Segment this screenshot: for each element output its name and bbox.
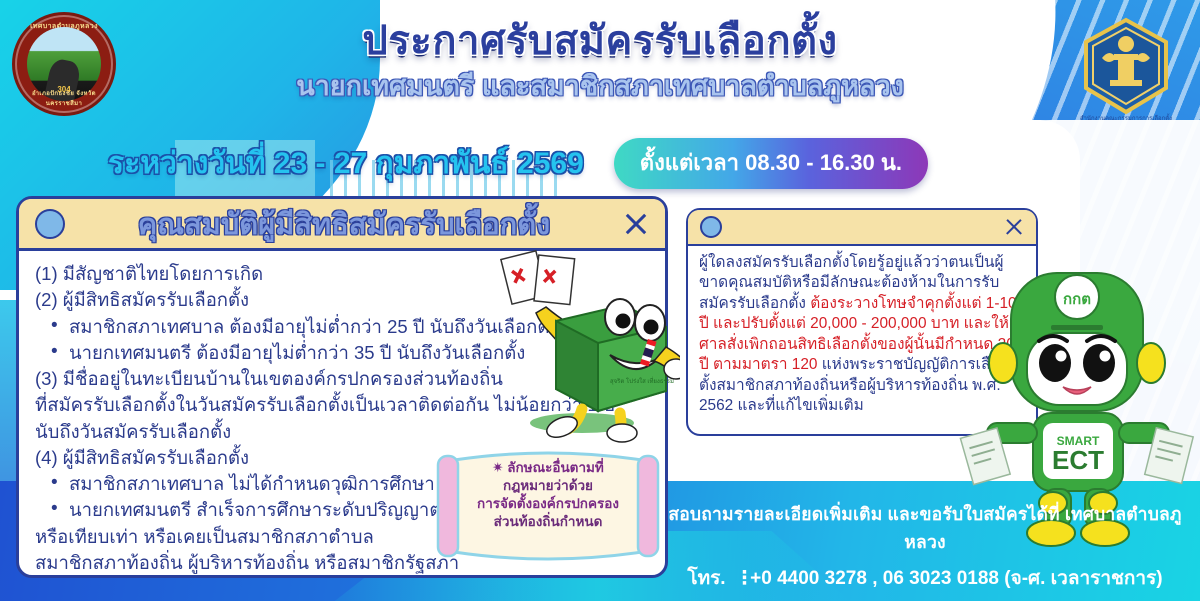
robot-chest-main-text: ECT — [1052, 445, 1104, 475]
scroll-note-line4: ส่วนท้องถิ่นกำหนด — [456, 513, 640, 531]
poster-title-block: ประกาศรับสมัครรับเลือกตั้ง นายกเทศมนตรี … — [0, 18, 1200, 102]
penalty-panel-titlebar — [688, 210, 1036, 246]
scroll-note-line3: การจัดตั้งองค์กรปกครอง — [456, 495, 640, 513]
ballot-box-body-text: สุจริต โปร่งใส เที่ยงธรรม — [610, 377, 674, 385]
footer-inquiry-text: สอบถามรายละเอียดเพิ่มเติม และขอรับใบสมัค… — [655, 500, 1195, 556]
date-and-time-row: ระหว่างวันที่ 23 - 27 กุมภาพันธ์ 2569 ตั… — [0, 138, 1200, 189]
application-date-range: ระหว่างวันที่ 23 - 27 กุมภาพันธ์ 2569 — [108, 140, 584, 187]
close-icon[interactable] — [623, 211, 649, 237]
scroll-note-line2: กฎหมายว่าด้วย — [456, 477, 640, 495]
blue-circle-icon — [700, 216, 722, 238]
scroll-note-text: ✷ ลักษณะอื่นตามที่ กฎหมายว่าด้วย การจัดต… — [456, 459, 640, 531]
municipality-seal-logo: เทศบาลตำบลภูหลวง 304 อำเภอปักธงชัย จังหว… — [12, 12, 116, 116]
robot-badge-text: กกต — [1063, 291, 1091, 308]
page-title: ประกาศรับสมัครรับเลือกตั้ง — [0, 18, 1200, 64]
qualifications-panel-title: คุณสมบัติผู้มีสิทธิสมัครรับเลือกตั้ง — [79, 201, 609, 247]
blue-circle-icon — [35, 209, 65, 239]
footer-contact-block: สอบถามรายละเอียดเพิ่มเติม และขอรับใบสมัค… — [655, 500, 1195, 593]
ect-commission-emblem: สำนักงานคณะกรรมการการเลือกตั้ง — [1074, 14, 1178, 122]
page-subtitle: นายกเทศมนตรี และสมาชิกสภาเทศบาลตำบลภูหลว… — [0, 70, 1200, 102]
application-time-badge: ตั้งแต่เวลา 08.30 - 16.30 น. — [614, 138, 928, 189]
close-icon[interactable] — [1004, 217, 1024, 237]
footer-telephone-row: โทร. ⋮ +0 4400 3278 , 06 3023 0188 (จ-ศ.… — [655, 563, 1195, 593]
telephone-label: โทร. — [687, 568, 725, 589]
seal-number: 304 — [15, 85, 113, 94]
additional-criteria-scroll-note: ✷ ลักษณะอื่นตามที่ กฎหมายว่าด้วย การจัดต… — [432, 448, 664, 566]
dots-separator-icon: ⋮ — [735, 567, 745, 590]
telephone-number[interactable]: +0 4400 3278 , 06 3023 0188 (จ-ศ. เวลารา… — [750, 568, 1162, 589]
scroll-note-line1: ✷ ลักษณะอื่นตามที่ — [456, 459, 640, 477]
green-ballot-box-mascot: สุจริต โปร่งใส เที่ยงธรรม — [470, 243, 680, 443]
